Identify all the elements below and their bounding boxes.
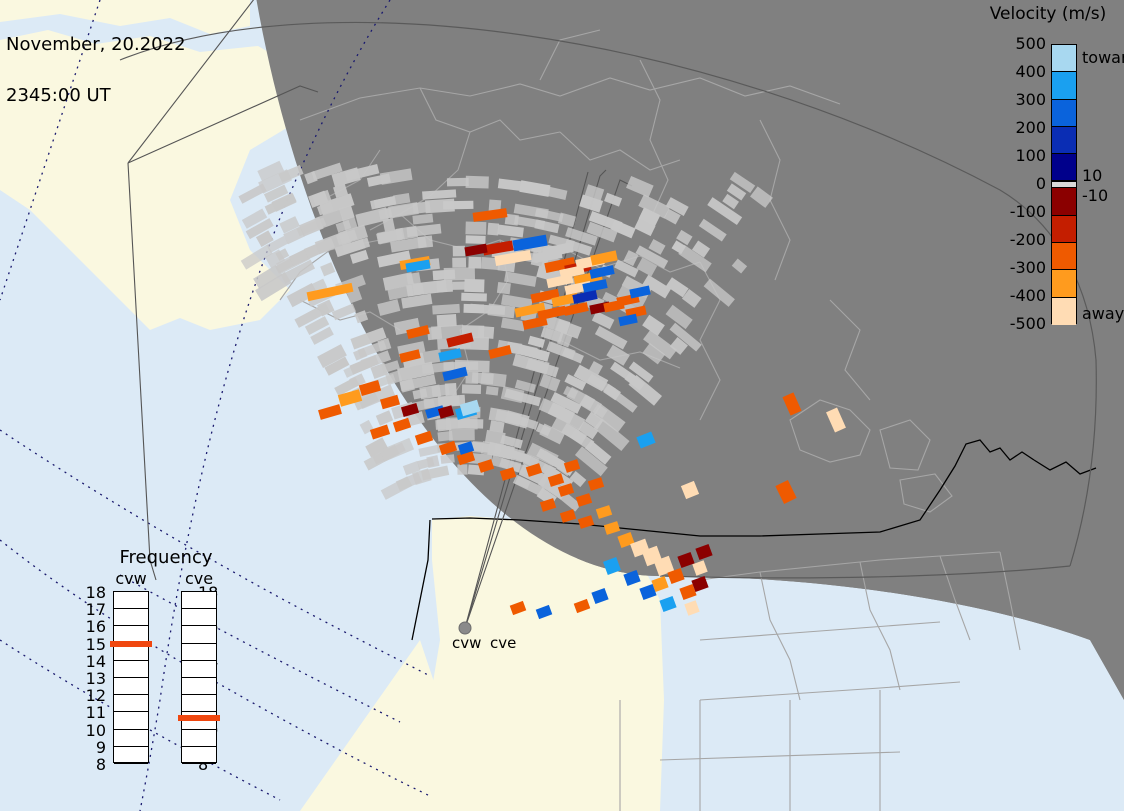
velocity-band-away-4 xyxy=(1052,298,1076,325)
ground-scatter-cell xyxy=(462,384,481,394)
frequency-segment xyxy=(182,661,216,678)
velocity-colorbar-title: Velocity (m/s) xyxy=(978,4,1118,24)
frequency-tick-14: 14 xyxy=(84,652,106,671)
velocity-band-toward-2 xyxy=(1052,100,1076,127)
velocity-band-away-2 xyxy=(1052,243,1076,270)
velocity-tick-neg500: -500 xyxy=(1010,314,1046,333)
velocity-band-away-3 xyxy=(1052,270,1076,297)
ground-scatter-cell xyxy=(432,304,460,315)
frequency-segment xyxy=(114,747,148,764)
frequency-tick-10: 10 xyxy=(84,721,106,740)
frequency-tick-13: 13 xyxy=(84,669,106,688)
velocity-band-toward-0 xyxy=(1052,45,1076,72)
velocity-tick-300: 300 xyxy=(1015,90,1046,109)
velocity-band-toward-4 xyxy=(1052,154,1076,181)
site-label-cve: cve xyxy=(490,634,516,652)
velocity-tick-neg100: -100 xyxy=(1010,202,1046,221)
radar-map-screenshot: November, 20.2022 2345:00 UT Velocity (m… xyxy=(0,0,1124,811)
frequency-bar xyxy=(181,591,217,763)
frequency-marker xyxy=(178,715,220,721)
site-label-cvw: cvw xyxy=(452,634,481,652)
ground-scatter-cell xyxy=(440,454,454,464)
frequency-legend-title: Frequency xyxy=(86,547,246,568)
radar-site-marker xyxy=(459,622,471,634)
frequency-tick-8: 8 xyxy=(84,755,106,774)
ground-scatter-cell xyxy=(468,257,481,269)
velocity-tick-neg300: -300 xyxy=(1010,258,1046,277)
ground-scatter-cell xyxy=(466,235,486,244)
frequency-tick-12: 12 xyxy=(84,686,106,705)
ground-scatter-cell xyxy=(444,267,475,280)
velocity-band-toward-1 xyxy=(1052,72,1076,99)
ground-scatter-cell xyxy=(486,386,499,396)
velocity-tick-400: 400 xyxy=(1015,62,1046,81)
timestamp-time: 2345:00 UT xyxy=(6,87,186,104)
frequency-tick-15: 15 xyxy=(84,635,106,654)
frequency-segment xyxy=(114,712,148,729)
frequency-legend-panel: Frequency 18171615141312111098 181716151… xyxy=(86,547,246,797)
frequency-segment xyxy=(182,592,216,609)
frequency-segment xyxy=(114,609,148,626)
frequency-column-label: cve xyxy=(176,569,222,588)
ground-scatter-cell xyxy=(445,383,457,396)
velocity-band-toward-3 xyxy=(1052,127,1076,154)
frequency-segment xyxy=(182,626,216,643)
ground-scatter-cell xyxy=(465,221,486,234)
ground-scatter-cell xyxy=(466,176,489,189)
frequency-tick-17: 17 xyxy=(84,600,106,619)
frequency-bar xyxy=(113,591,149,763)
velocity-band-zero xyxy=(1052,181,1076,188)
ground-scatter-cell xyxy=(457,464,467,474)
frequency-segment xyxy=(182,730,216,747)
velocity-tick-500: 500 xyxy=(1015,34,1046,53)
timestamp-date: November, 20.2022 xyxy=(6,36,186,53)
frequency-segment xyxy=(182,747,216,764)
velocity-colorbar xyxy=(1051,44,1077,324)
ground-scatter-cell xyxy=(426,455,439,468)
ground-scatter-cell xyxy=(417,236,433,249)
frequency-segment xyxy=(182,644,216,661)
threshold-upper-label: 10 xyxy=(1082,166,1102,185)
velocity-band-away-0 xyxy=(1052,188,1076,215)
ground-scatter-cell xyxy=(461,293,487,302)
frequency-segment xyxy=(114,661,148,678)
velocity-tick-neg200: -200 xyxy=(1010,230,1046,249)
frequency-segment xyxy=(114,695,148,712)
frequency-segment xyxy=(114,592,148,609)
away-label: away xyxy=(1082,304,1124,323)
ground-scatter-cell xyxy=(443,201,473,210)
ground-scatter-cell xyxy=(436,280,453,293)
ground-scatter-cell xyxy=(464,279,484,292)
toward-label: toward xyxy=(1082,48,1124,67)
threshold-lower-label: -10 xyxy=(1082,186,1108,205)
velocity-tick-neg400: -400 xyxy=(1010,286,1046,305)
ground-scatter-cell xyxy=(452,257,466,267)
ground-scatter-cell xyxy=(449,429,475,440)
frequency-tick-11: 11 xyxy=(84,703,106,722)
frequency-tick-18: 18 xyxy=(84,583,106,602)
frequency-tick-16: 16 xyxy=(84,617,106,636)
frequency-segment xyxy=(182,678,216,695)
frequency-segment xyxy=(114,678,148,695)
ground-scatter-cell xyxy=(447,178,469,187)
timestamp-block: November, 20.2022 2345:00 UT xyxy=(6,2,186,138)
ground-scatter-cell xyxy=(478,326,495,339)
velocity-tick-0: 0 xyxy=(1036,174,1046,193)
velocity-tick-100: 100 xyxy=(1015,146,1046,165)
ground-scatter-cell xyxy=(453,246,465,257)
frequency-segment xyxy=(114,730,148,747)
frequency-segment xyxy=(182,695,216,712)
ground-scatter-cell xyxy=(458,419,484,429)
velocity-tick-200: 200 xyxy=(1015,118,1046,137)
frequency-tick-9: 9 xyxy=(84,738,106,757)
frequency-marker xyxy=(110,641,152,647)
velocity-band-away-1 xyxy=(1052,216,1076,243)
ground-scatter-cell xyxy=(497,282,511,294)
ground-scatter-cell xyxy=(437,314,457,327)
frequency-column-label: cvw xyxy=(108,569,154,588)
frequency-segment xyxy=(182,609,216,626)
ground-scatter-cell xyxy=(406,272,420,284)
velocity-colorbar-panel: Velocity (m/s) 5004003002001000-100-200-… xyxy=(972,4,1124,334)
